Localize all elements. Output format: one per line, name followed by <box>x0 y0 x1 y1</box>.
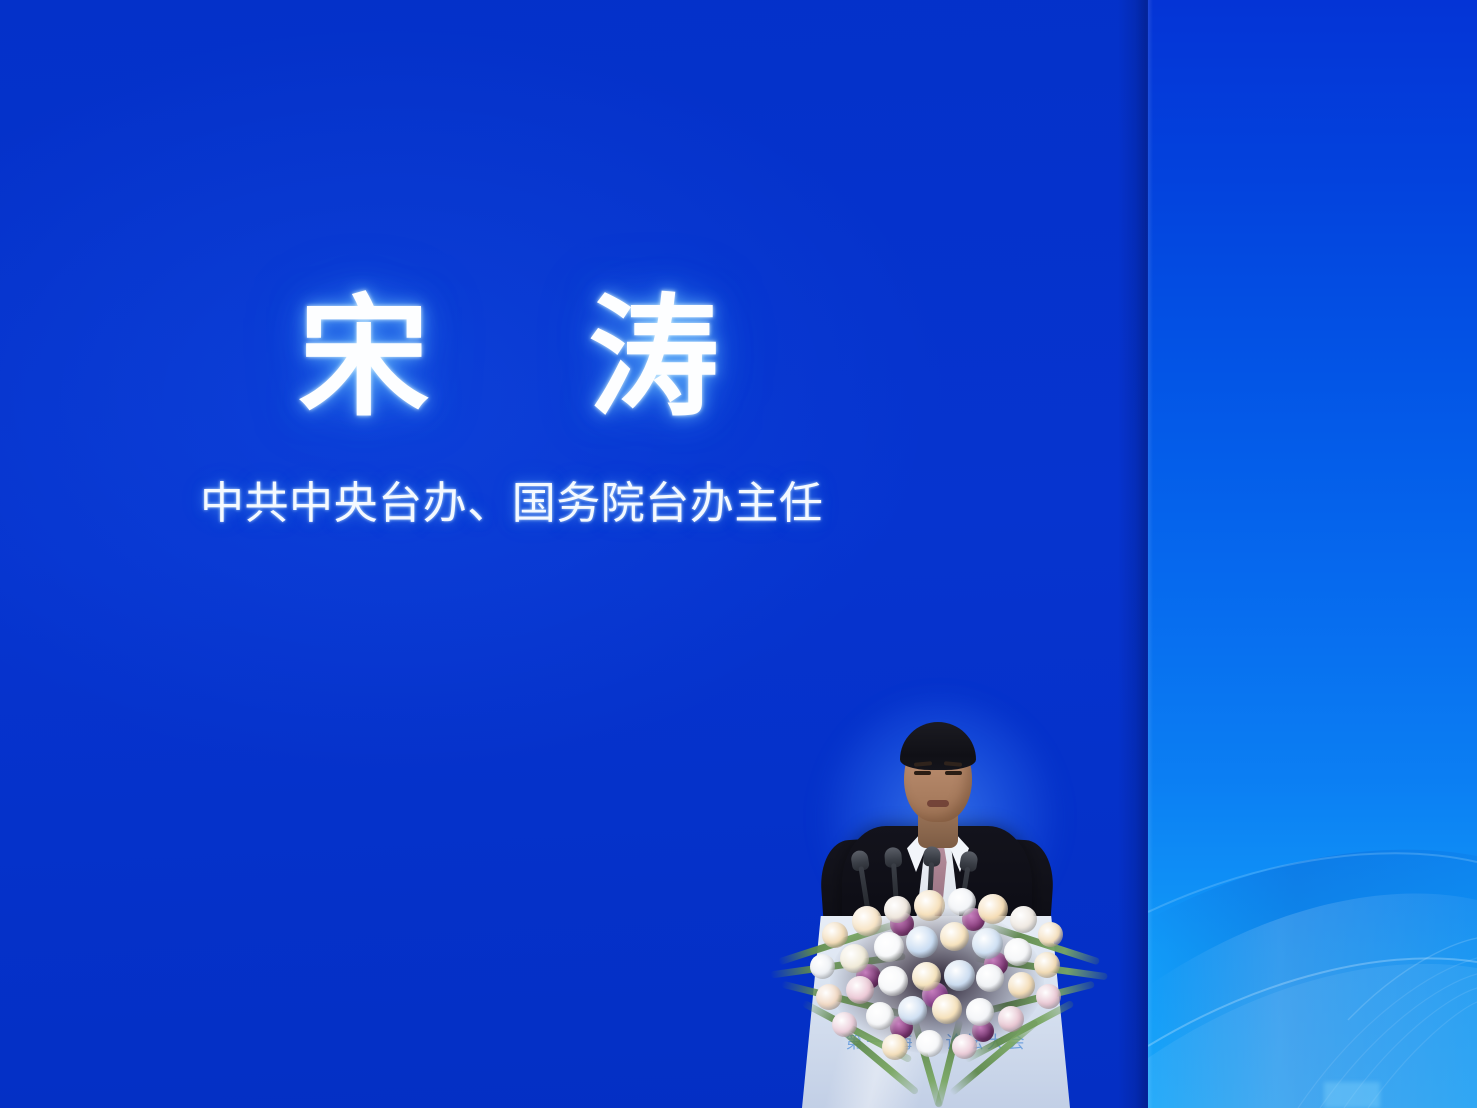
rose-bloom <box>1008 972 1035 999</box>
rose-bloom <box>840 944 869 973</box>
flower-bouquet <box>786 878 1086 1078</box>
rose-bloom <box>916 1030 943 1057</box>
rose-bloom <box>912 962 941 991</box>
rose-bloom <box>976 964 1004 992</box>
rose-bloom <box>1038 922 1063 947</box>
rose-bloom <box>906 926 938 958</box>
wave-accent-chip <box>1324 1082 1380 1108</box>
broadcast-screen: 宋 涛 中共中央台办、国务院台办主任 第一 海峡 论坛大会 <box>0 0 1477 1108</box>
rose-bloom <box>1004 938 1032 966</box>
rose-bloom <box>914 890 945 921</box>
speaker-name: 宋 涛 <box>200 292 820 423</box>
rose-bloom <box>816 984 842 1010</box>
rose-bloom <box>852 906 882 936</box>
speaker-scene: 第一 海峡 论坛大会 <box>766 690 1106 1108</box>
eye-left <box>914 771 931 775</box>
rose-bloom <box>832 1012 857 1037</box>
eye-right <box>945 771 962 775</box>
rose-bloom <box>940 922 969 951</box>
rose-bloom <box>978 894 1008 924</box>
rose-bloom <box>882 1034 908 1060</box>
rose-bloom <box>966 998 994 1026</box>
rose-bloom <box>998 1006 1024 1032</box>
rose-bloom <box>1010 906 1037 933</box>
rose-bloom <box>932 994 962 1024</box>
backdrop-right-panel <box>1148 0 1477 1108</box>
rose-bloom <box>846 976 874 1004</box>
mouth <box>927 800 949 807</box>
rose-bloom <box>874 932 904 962</box>
rose-bloom <box>1036 984 1061 1009</box>
rose-bloom <box>898 996 927 1025</box>
rose-bloom <box>878 966 908 996</box>
rose-bloom <box>884 896 911 923</box>
rose-bloom <box>948 888 976 916</box>
backdrop-panel-seam <box>1118 0 1150 1108</box>
rose-bloom <box>972 928 1003 959</box>
rose-bloom <box>822 922 848 948</box>
speaker-position-title: 中共中央台办、国务院台办主任 <box>200 480 820 528</box>
rose-bloom <box>952 1034 977 1059</box>
wave-graphic <box>1148 0 1477 1108</box>
rose-bloom <box>810 954 835 979</box>
rose-bloom <box>1034 952 1060 978</box>
rose-bloom <box>944 960 975 991</box>
rose-bloom <box>866 1002 894 1030</box>
